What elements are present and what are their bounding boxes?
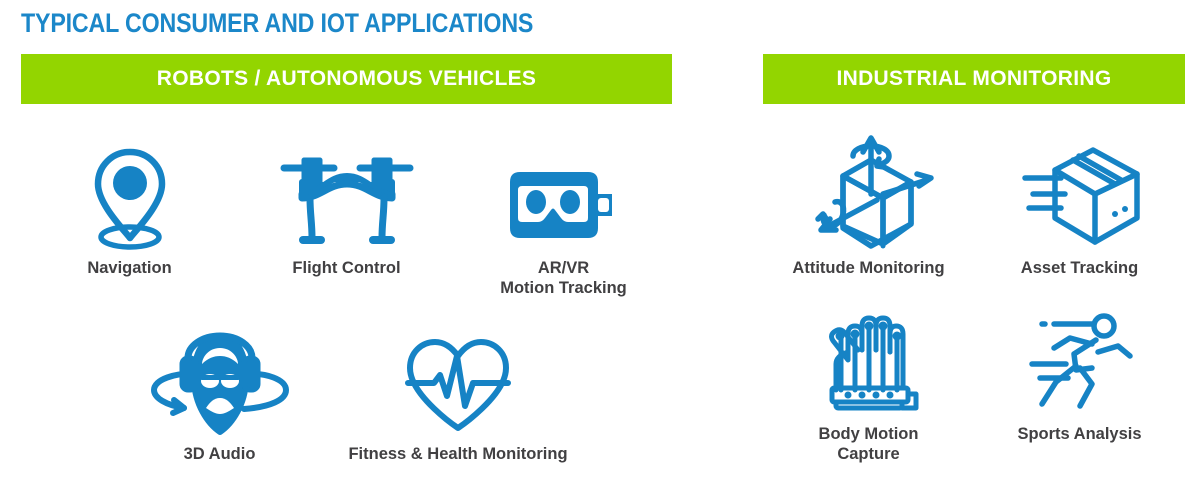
tile-label: Navigation — [87, 258, 171, 278]
head-headphones-icon — [144, 326, 296, 436]
tile-flight-control[interactable]: Flight Control — [238, 140, 455, 298]
section-heading-industrial: INDUSTRIAL MONITORING — [763, 54, 1185, 104]
page-title: TYPICAL CONSUMER AND IOT APPLICATIONS — [21, 8, 533, 39]
runner-icon — [1018, 306, 1142, 416]
tile-row: Navigation — [21, 140, 672, 298]
tile-fitness-health-monitoring[interactable]: Fitness & Health Monitoring — [328, 326, 588, 464]
tile-label: Asset Tracking — [1021, 258, 1138, 278]
tile-label: Body Motion Capture — [819, 424, 919, 464]
tile-label: Attitude Monitoring — [792, 258, 944, 278]
tile-label: Sports Analysis — [1017, 424, 1141, 444]
tile-navigation[interactable]: Navigation — [21, 140, 238, 298]
tile-row: Attitude Monitoring — [763, 140, 1185, 278]
tile-3d-audio[interactable]: 3D Audio — [111, 326, 328, 464]
section-industrial-monitoring: INDUSTRIAL MONITORING — [763, 54, 1185, 464]
tile-row: Body Motion Capture — [763, 306, 1185, 464]
tile-attitude-monitoring[interactable]: Attitude Monitoring — [763, 140, 974, 278]
tile-body-motion-capture[interactable]: Body Motion Capture — [763, 306, 974, 464]
sensor-glove-icon — [814, 306, 924, 416]
heart-pulse-icon — [402, 326, 514, 436]
package-box-icon — [1015, 140, 1145, 250]
section-robots-autonomous-vehicles: ROBOTS / AUTONOMOUS VEHICLES Navigation — [21, 54, 672, 464]
cube-axes-icon — [799, 140, 939, 250]
section-heading-robots: ROBOTS / AUTONOMOUS VEHICLES — [21, 54, 672, 104]
tile-label: AR/VR Motion Tracking — [500, 258, 627, 298]
drone-icon — [276, 140, 418, 250]
tile-label: Flight Control — [292, 258, 400, 278]
tile-label: 3D Audio — [184, 444, 256, 464]
tile-label: Fitness & Health Monitoring — [348, 444, 567, 464]
vr-headset-icon — [500, 140, 628, 250]
tile-row: 3D Audio Fitness & Health Monitoring — [21, 326, 672, 464]
tile-sports-analysis[interactable]: Sports Analysis — [974, 306, 1185, 464]
tile-asset-tracking[interactable]: Asset Tracking — [974, 140, 1185, 278]
tile-arvr-motion-tracking[interactable]: AR/VR Motion Tracking — [455, 140, 672, 298]
map-pin-icon — [80, 140, 180, 250]
